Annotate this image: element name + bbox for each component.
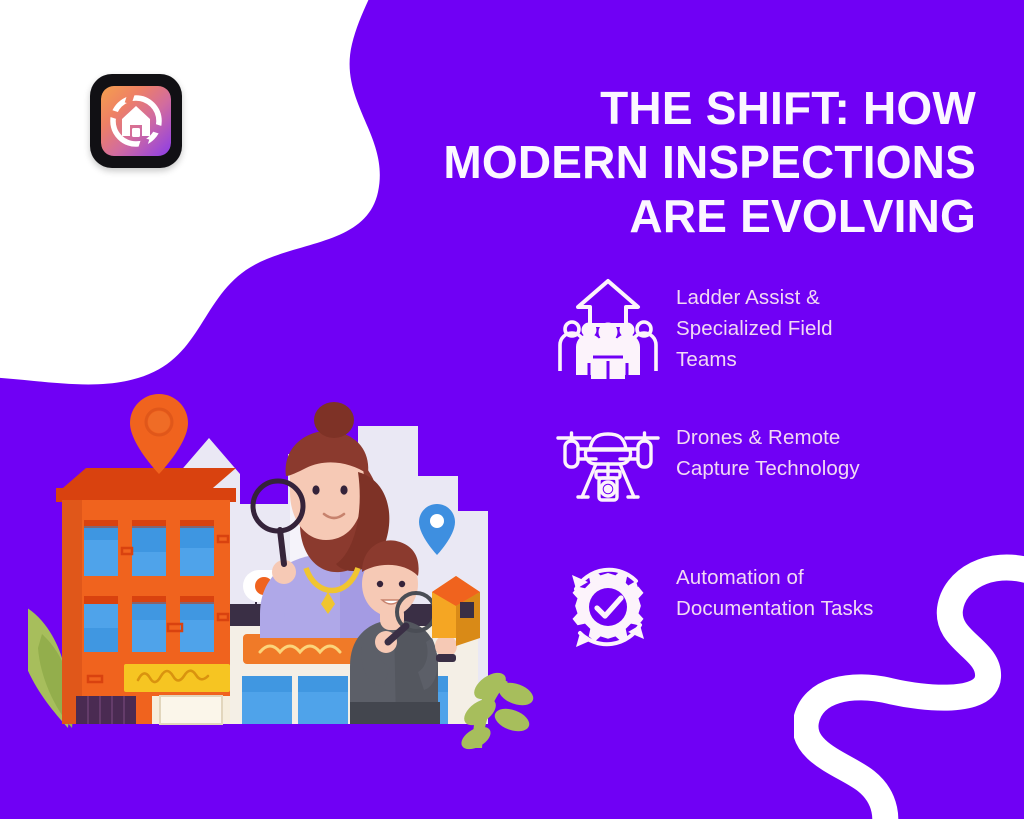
orange-map-pin — [130, 394, 188, 474]
title-line-1: THE SHIFT: HOW — [600, 82, 976, 134]
drone-icon — [552, 412, 664, 522]
feature-item-automation[interactable]: Automation of Documentation Tasks — [552, 552, 982, 664]
feature-label-automation: Automation of Documentation Tasks — [664, 552, 884, 624]
orange-apartment-building — [56, 468, 236, 724]
brand-logo[interactable] — [90, 74, 182, 168]
gear-check-automation-icon — [552, 552, 664, 662]
title-line-3: ARE EVOLVING — [629, 190, 976, 242]
poster-canvas: THE SHIFT: HOW MODERN INSPECTIONS ARE EV… — [0, 0, 1024, 819]
feature-label-teams: Ladder Assist & Specialized Field Teams — [664, 272, 884, 375]
page-title: THE SHIFT: HOW MODERN INSPECTIONS ARE EV… — [336, 82, 976, 243]
feature-item-drone[interactable]: Drones & Remote Capture Technology — [552, 412, 982, 524]
feature-item-teams[interactable]: Ladder Assist & Specialized Field Teams — [552, 272, 982, 384]
feature-label-drone: Drones & Remote Capture Technology — [664, 412, 884, 484]
property-inspection-illustration — [28, 376, 548, 776]
logo-gradient-tile — [101, 85, 171, 157]
feature-list: Ladder Assist & Specialized Field Teams — [552, 272, 982, 692]
title-line-2: MODERN INSPECTIONS — [443, 136, 976, 188]
house-in-circle-icon — [101, 86, 171, 156]
team-growth-icon — [552, 272, 664, 382]
